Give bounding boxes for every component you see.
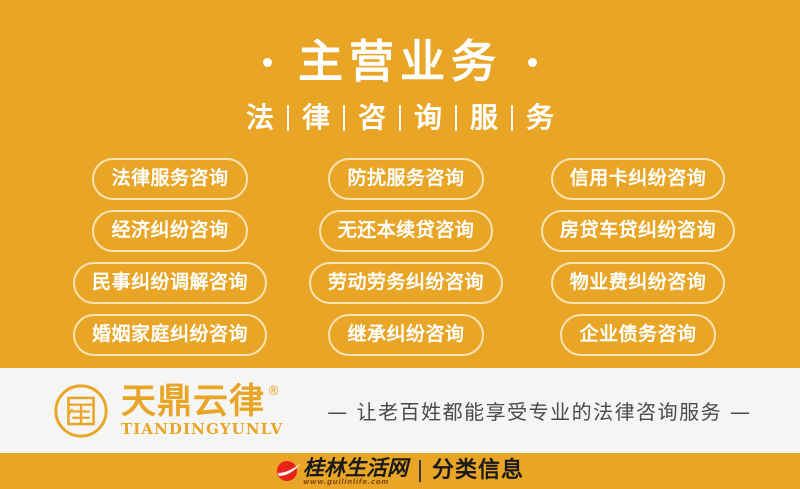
subtitle-separator (287, 105, 289, 131)
service-pill[interactable]: 信用卡纠纷咨询 (551, 158, 726, 200)
service-pill[interactable]: 继承纠纷咨询 (328, 314, 483, 356)
service-pill[interactable]: 民事纠纷调解咨询 (73, 262, 267, 304)
service-pill[interactable]: 婚姻家庭纠纷咨询 (73, 314, 267, 356)
service-pill[interactable]: 无还本续贷咨询 (319, 210, 494, 252)
footer-divider (419, 460, 421, 482)
service-pill[interactable]: 企业债务咨询 (560, 314, 715, 356)
subtitle-separator (455, 105, 457, 131)
service-pill[interactable]: 劳动劳务纠纷咨询 (309, 262, 503, 304)
subtitle-separator (399, 105, 401, 131)
service-column-middle: 防扰服务咨询 无还本续贷咨询 劳动劳务纠纷咨询 继承纠纷咨询 (296, 158, 516, 356)
subtitle-char: 律 (289, 101, 343, 135)
brand-name-en: TIANDINGYUNLV (121, 420, 283, 438)
subtitle-char: 咨 (345, 101, 399, 135)
service-pill[interactable]: 防扰服务咨询 (328, 158, 483, 200)
service-pill[interactable]: 物业费纠纷咨询 (551, 262, 726, 304)
brand-name-cn: 天鼎云律 (121, 383, 265, 421)
footer-section-label[interactable]: 分类信息 (432, 459, 524, 483)
service-column-right: 信用卡纠纷咨询 房贷车贷纠纷咨询 物业费纠纷咨询 企业债务咨询 (524, 158, 752, 356)
title-dot-left-icon (263, 58, 272, 67)
service-pill[interactable]: 房贷车贷纠纷咨询 (541, 210, 735, 252)
guilinlife-text: 桂林生活网 www.guilinlife.com (303, 457, 408, 486)
red-swoosh-icon (276, 460, 302, 482)
subtitle-char: 务 (513, 101, 567, 135)
title-dot-right-icon (528, 58, 537, 67)
header: 主营业务 法 律 咨 询 服 务 (0, 34, 800, 138)
subtitle-char: 询 (401, 101, 455, 135)
subtitle-char: 服 (457, 101, 511, 135)
service-list: 法律服务咨询 经济纠纷咨询 民事纠纷调解咨询 婚姻家庭纠纷咨询 防扰服务咨询 无… (52, 158, 752, 356)
service-column-left: 法律服务咨询 经济纠纷咨询 民事纠纷调解咨询 婚姻家庭纠纷咨询 (52, 158, 288, 356)
seal-stamp-icon (52, 382, 110, 440)
subtitle-char: 法 (233, 101, 287, 135)
registered-mark-icon: ® (267, 385, 280, 399)
subtitle-row: 法 律 咨 询 服 务 (0, 98, 800, 138)
guilinlife-logo[interactable]: 桂林生活网 www.guilinlife.com (276, 457, 408, 486)
footer-bar: 桂林生活网 www.guilinlife.com 分类信息 (0, 453, 800, 489)
site-url: www.guilinlife.com (303, 478, 389, 486)
subtitle-separator (511, 105, 513, 131)
brand-text: 天鼎云律 ® TIANDINGYUNLV (121, 383, 283, 438)
service-pill[interactable]: 法律服务咨询 (92, 158, 247, 200)
brand-lockup: 天鼎云律 ® TIANDINGYUNLV (52, 382, 283, 440)
service-pill[interactable]: 经济纠纷咨询 (92, 210, 247, 252)
brand-band: 天鼎云律 ® TIANDINGYUNLV — 让老百姓都能享受专业的法律咨询服务… (0, 368, 800, 453)
page-title: 主营业务 (298, 36, 502, 88)
subtitle-separator (343, 105, 345, 131)
brand-name-row: 天鼎云律 ® (121, 383, 280, 421)
poster-canvas: 主营业务 法 律 咨 询 服 务 法律服务咨询 经济纠纷咨询 民事纠纷调解咨询 … (0, 0, 800, 489)
title-row: 主营业务 (0, 34, 800, 90)
brand-tagline: — 让老百姓都能享受专业的法律咨询服务 — (327, 396, 751, 425)
site-name: 桂林生活网 (303, 457, 408, 479)
